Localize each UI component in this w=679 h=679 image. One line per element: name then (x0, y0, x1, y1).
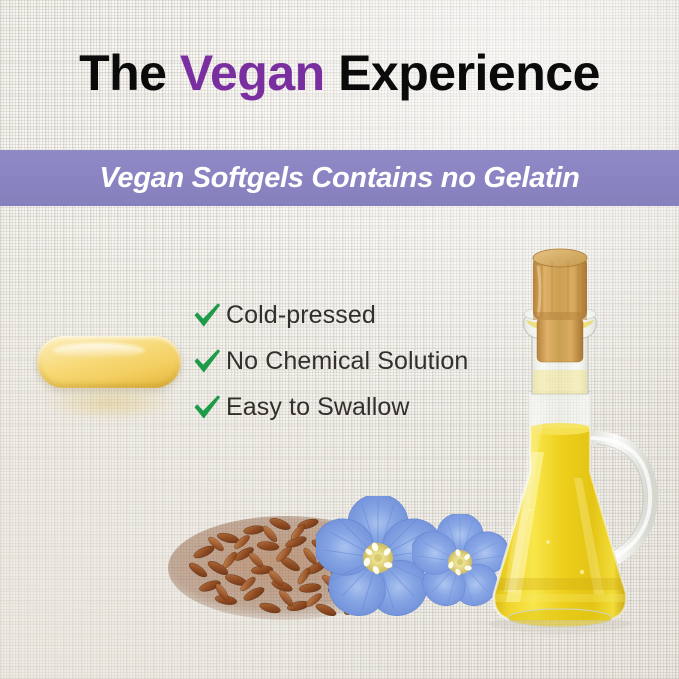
capsule-body (37, 336, 181, 388)
headline-accent-word: Vegan (180, 45, 325, 101)
benefit-label: Easy to Swallow (226, 393, 410, 422)
softgel-capsule (34, 334, 186, 430)
page-title: The Vegan Experience (0, 44, 679, 102)
capsule-reflection (46, 386, 174, 420)
list-item: Cold-pressed (192, 292, 468, 338)
headline-suffix: Experience (325, 45, 600, 101)
list-item: Easy to Swallow (192, 384, 468, 430)
product-marketing-poster: The Vegan Experience Vegan Softgels Cont… (0, 0, 679, 679)
benefits-list: Cold-pressed No Chemical Solution Easy t… (192, 292, 468, 430)
check-icon (192, 393, 226, 421)
oil-cruet-bottle (470, 242, 670, 638)
headline-prefix: The (79, 45, 180, 101)
check-icon (192, 347, 226, 375)
capsule-highlight (53, 343, 145, 358)
subtitle-banner: Vegan Softgels Contains no Gelatin (0, 150, 679, 206)
subtitle-banner-text: Vegan Softgels Contains no Gelatin (99, 162, 579, 195)
check-icon (192, 301, 226, 329)
list-item: No Chemical Solution (192, 338, 468, 384)
benefit-label: Cold-pressed (226, 301, 376, 330)
benefit-label: No Chemical Solution (226, 347, 468, 376)
